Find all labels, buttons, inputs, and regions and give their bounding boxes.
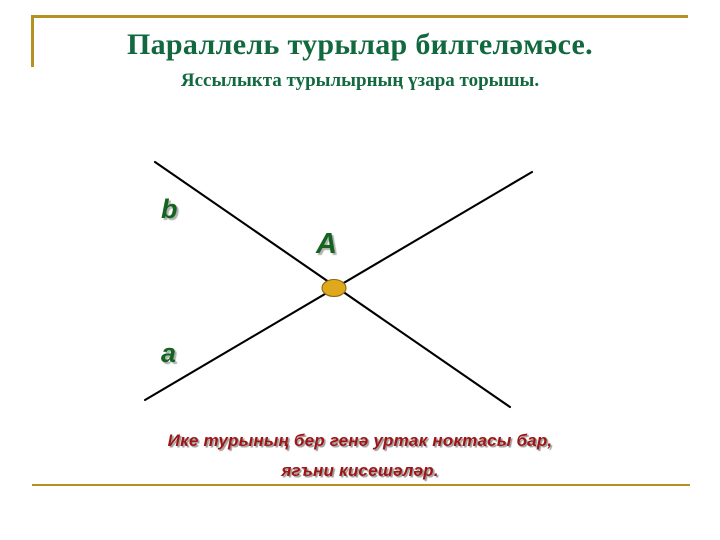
- line-label-b: b: [161, 196, 178, 223]
- slide-canvas: Параллель турылар билгеләмәсе. Яссылыкта…: [0, 0, 720, 540]
- caption-line-1: Ике турының бер генә уртак ноктасы бар,: [0, 432, 720, 449]
- point-label-a: A: [316, 230, 337, 259]
- caption-line-2: ягъни кисешәләр.: [0, 462, 720, 479]
- line-label-a: a: [161, 340, 176, 367]
- intersection-point-a: [322, 280, 346, 297]
- caption-block: Ике турының бер генә уртак ноктасы бар, …: [0, 432, 720, 479]
